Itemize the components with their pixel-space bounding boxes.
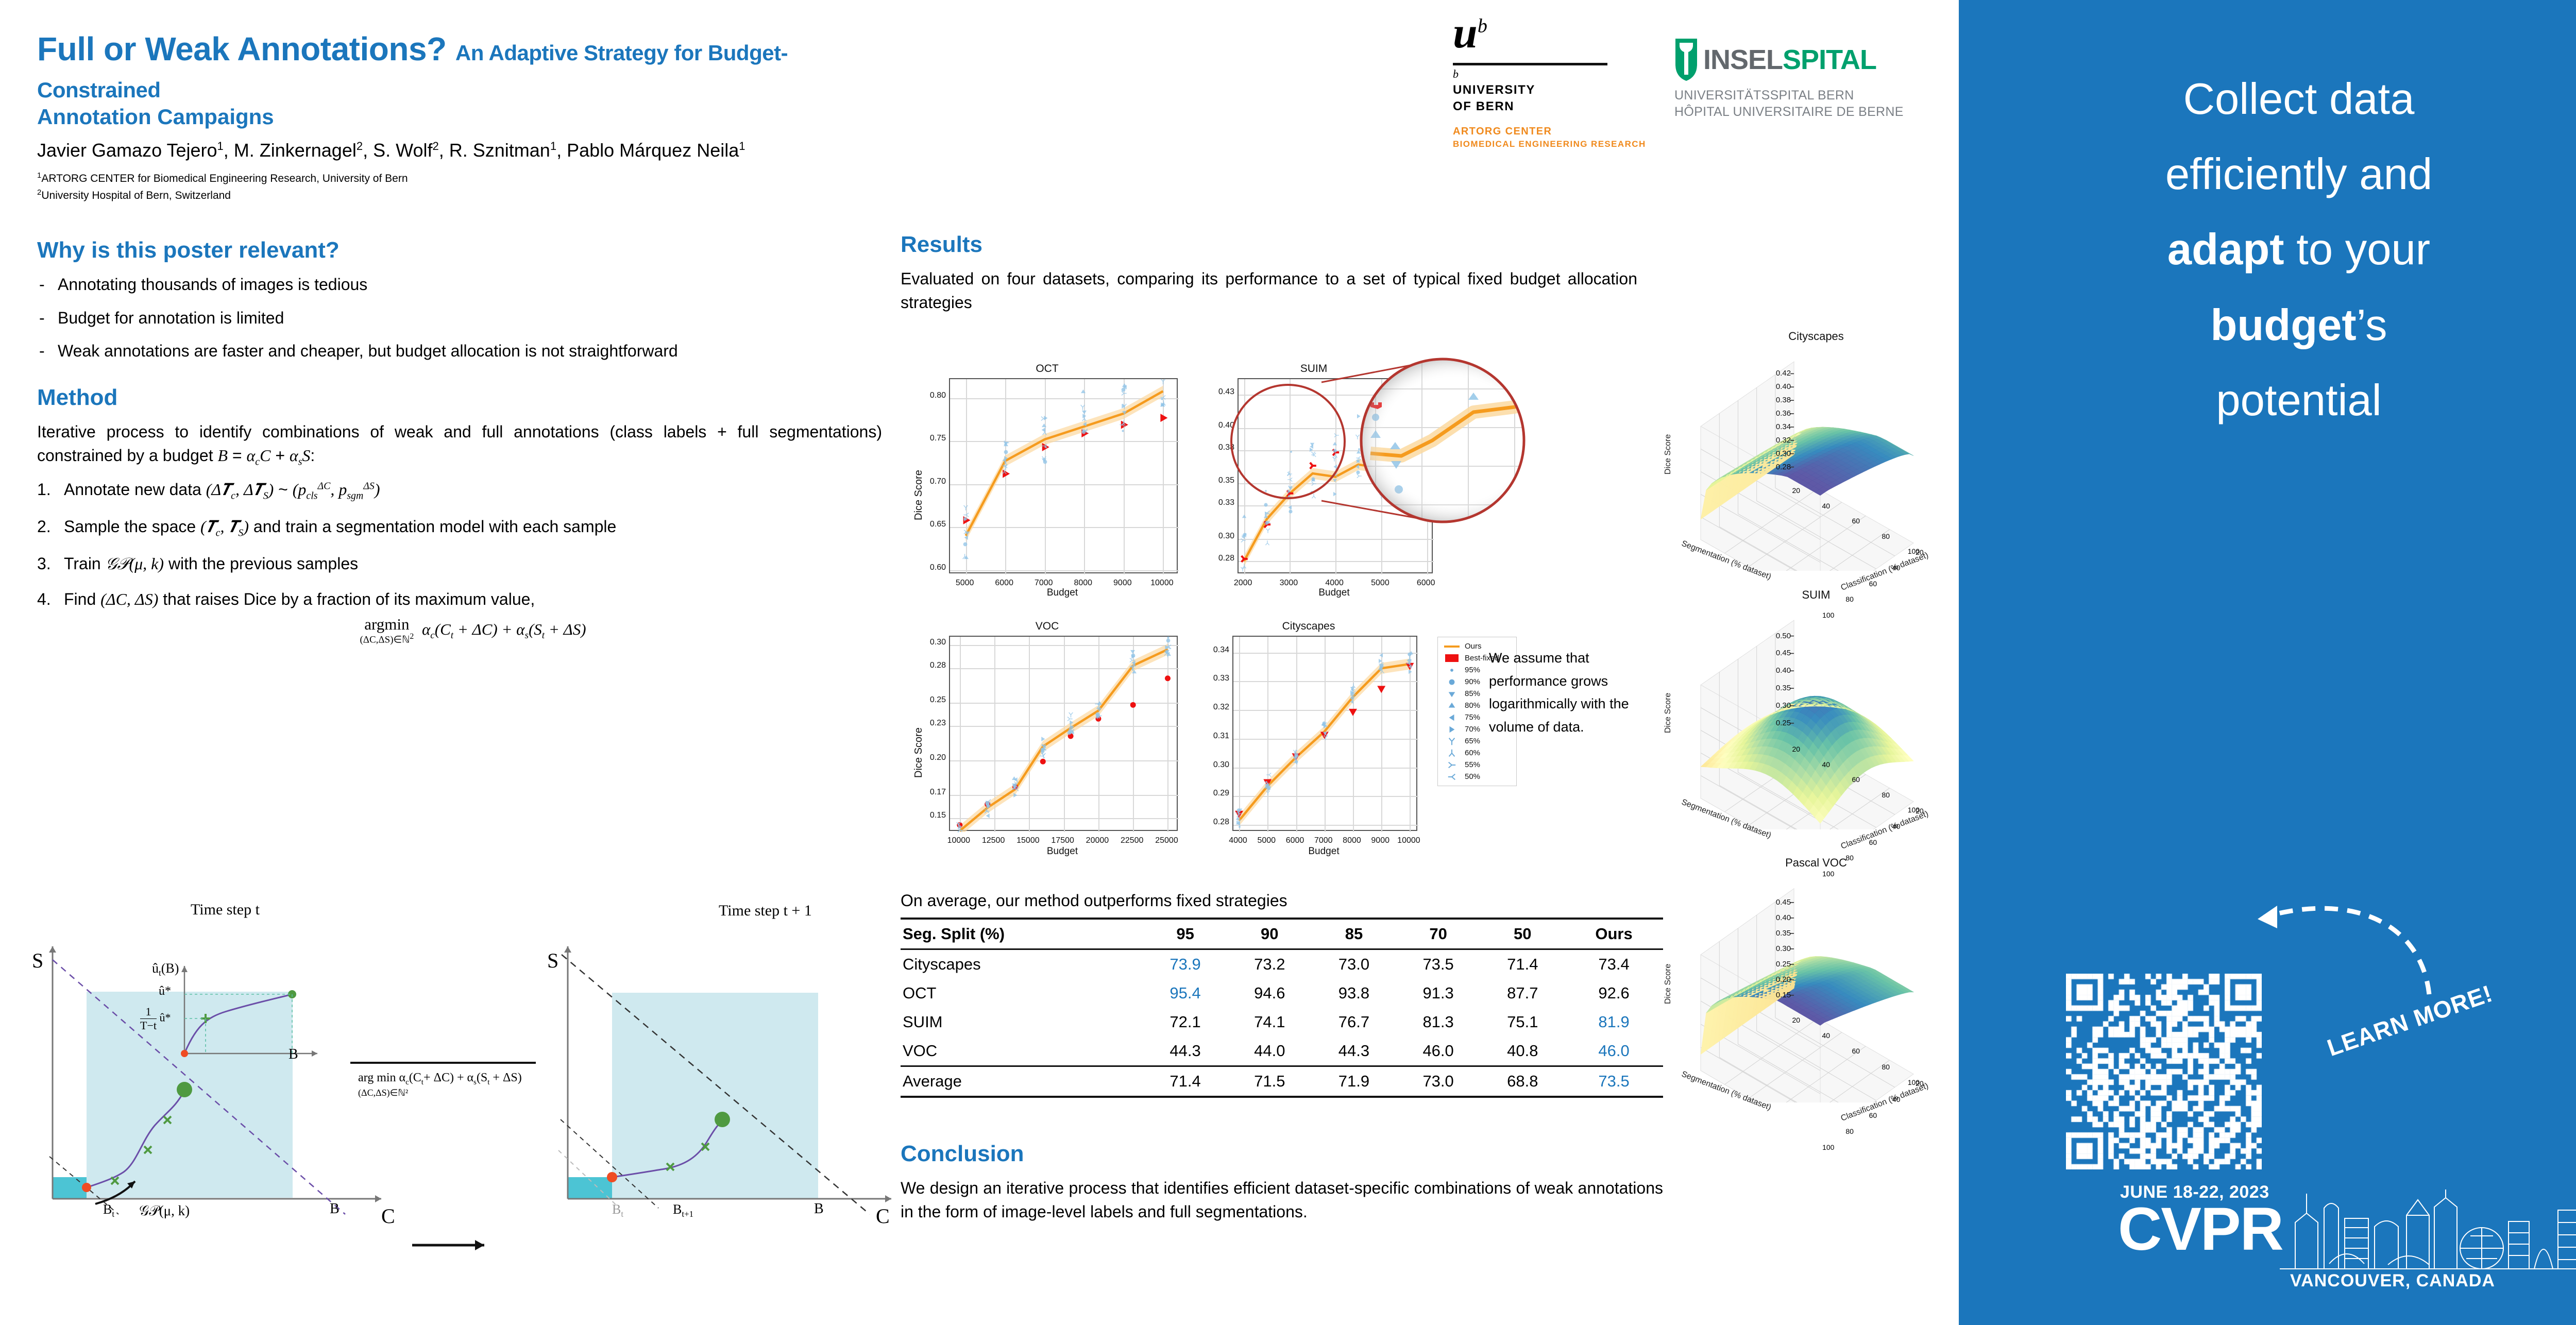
chart-title: Cityscapes	[1195, 620, 1422, 633]
table-cell: 71.4	[1480, 949, 1565, 979]
insel-word-2: SPITAL	[1783, 44, 1876, 75]
surface-pascal-voc: Pascal VOC 0.150.200.250.300.350.400.45D…	[1667, 856, 1965, 1124]
surface-canvas: 0.250.300.350.400.450.50Dice ScoreSegmen…	[1667, 603, 1965, 829]
diagram-axis-S-right: S	[547, 948, 558, 973]
list-item: Budget for annotation is limited	[37, 306, 882, 330]
y-tick-label: 0.28	[1201, 554, 1234, 563]
tagline-line-1: Collect data	[1990, 62, 2576, 137]
legend-marker-icon	[1443, 666, 1461, 675]
scatter-point	[1378, 436, 1384, 442]
scatter-point	[1287, 485, 1293, 491]
scatter-point	[1288, 449, 1294, 455]
table-column-header: 50	[1480, 919, 1565, 949]
table-row-label: SUIM	[901, 1008, 1143, 1037]
table-cell: 71.9	[1312, 1066, 1396, 1097]
table-cell: 92.6	[1565, 979, 1663, 1008]
scatter-point	[1323, 731, 1329, 737]
scatter-point	[1041, 429, 1048, 436]
legend-label: 55%	[1465, 760, 1480, 769]
ub-name: UNIVERSITY OF BERN	[1453, 82, 1669, 114]
legend-label: 80%	[1465, 701, 1480, 710]
diagram-axis-C-right2: C	[876, 1204, 890, 1228]
legend-marker-icon	[1443, 689, 1461, 699]
scatter-point	[1003, 439, 1010, 446]
legend-label: 60%	[1465, 749, 1480, 757]
z-tick-label: 0.38	[1761, 396, 1791, 404]
y-tick-label: 0.75	[913, 434, 946, 443]
y-tick-label: 0.25	[913, 695, 946, 705]
scatter-point	[1311, 481, 1317, 487]
cvpr-wordmark: CVPR	[2118, 1199, 2283, 1260]
scatter-point	[1264, 509, 1270, 516]
series-best-fixed-marker	[1040, 759, 1046, 765]
diagram-label-B-right: B	[814, 1201, 824, 1217]
scatter-point	[1407, 669, 1413, 675]
scatter-point	[1425, 414, 1431, 420]
page-title: Full or Weak Annotations? An Adaptive St…	[37, 31, 882, 105]
scatter-point	[1321, 721, 1328, 727]
scatter-point	[1293, 751, 1299, 757]
middle-arrow	[412, 1240, 484, 1250]
y-tick-label: 20	[1916, 1079, 1938, 1088]
table-cell: 76.7	[1312, 1008, 1396, 1037]
scatter-point	[984, 808, 990, 814]
y-tick-label: 40	[1892, 822, 1915, 830]
qr-code[interactable]	[2066, 974, 2262, 1169]
y-tick-label: 20	[1916, 807, 1938, 815]
z-tick-label: 0.30	[1761, 944, 1791, 953]
scatter-point	[957, 827, 963, 834]
y-tick-label: 40	[1892, 1095, 1915, 1103]
scatter-point	[1122, 384, 1128, 390]
table-header-row: Seg. Split (%)9590857050Ours	[901, 919, 1663, 949]
legend-label: 65%	[1465, 737, 1480, 745]
series-layer	[950, 379, 1179, 574]
plot-area	[949, 378, 1178, 573]
scatter-point	[1165, 643, 1172, 650]
table-cell: 68.8	[1480, 1066, 1565, 1097]
table-cell: 75.1	[1480, 1008, 1565, 1037]
table-column-header: 90	[1227, 919, 1312, 949]
scatter-point	[1081, 415, 1088, 422]
table-cell: 73.5	[1396, 949, 1481, 979]
scatter-point	[1423, 448, 1430, 454]
scatter-point	[1350, 683, 1357, 689]
scatter-point	[1079, 404, 1086, 411]
inselspital-wordmark: INSELSPITAL	[1703, 44, 1876, 76]
legend-item: 50%	[1443, 771, 1511, 783]
results-chart-grid: OCT Dice Score Budget 0.600.650.700.750.…	[907, 361, 1535, 876]
chart-xlabel: Budget	[949, 846, 1176, 857]
conclusion-heading: Conclusion	[901, 1141, 1663, 1167]
chart-title: SUIM	[1195, 363, 1432, 375]
scatter-point	[1292, 759, 1298, 766]
y-tick-label: 60	[1869, 580, 1892, 588]
scatter-point	[1066, 716, 1073, 722]
table-cell: 73.4	[1565, 949, 1663, 979]
series-best-fixed-marker	[1377, 686, 1385, 693]
table-caption: On average, our method outperforms fixed…	[901, 891, 1663, 910]
scatter-point	[1236, 819, 1242, 825]
table-column-header: Ours	[1565, 919, 1663, 949]
tagline-line-3-rest: to your	[2284, 225, 2430, 274]
surface-canvas: 0.150.200.250.300.350.400.45Dice ScoreSe…	[1667, 871, 1965, 1102]
scatter-point	[1241, 532, 1247, 538]
institution-logos: ub b UNIVERSITY OF BERN ARTORG CENTER BI…	[1453, 13, 1947, 183]
legend-marker-icon	[1443, 654, 1461, 662]
legend-label: 70%	[1465, 725, 1480, 734]
x-tick-label: 60	[1836, 775, 1860, 784]
artorg-logo: ARTORG CENTER BIOMEDICAL ENGINEERING RES…	[1453, 125, 1669, 150]
legend-marker-icon	[1443, 713, 1461, 722]
x-tick-label: 40	[1806, 1031, 1830, 1040]
results-table: Seg. Split (%)9590857050Ours Cityscapes7…	[901, 918, 1663, 1098]
chart-title: VOC	[907, 620, 1188, 633]
tagline-budget: budget	[2210, 301, 2356, 350]
scatter-point	[1378, 493, 1384, 499]
tagline-line-3: adapt to your	[1990, 212, 2576, 287]
table-cell: 71.5	[1227, 1066, 1312, 1097]
scatter-point	[961, 553, 968, 560]
scatter-point	[1001, 468, 1008, 475]
scatter-point	[1082, 428, 1089, 434]
table-row-label: Average	[901, 1066, 1143, 1097]
y-tick-label: 20	[1916, 548, 1938, 556]
middle-column: Results Evaluated on four datasets, comp…	[901, 232, 1663, 323]
scatter-point	[1424, 438, 1430, 445]
series-best-fixed-marker	[1349, 709, 1357, 716]
y-tick-label: 60	[1869, 1111, 1892, 1119]
table-cell: 95.4	[1143, 979, 1228, 1008]
scatter-point	[1332, 441, 1338, 447]
scatter-point	[1354, 434, 1361, 440]
y-tick-label: 0.30	[1196, 760, 1229, 770]
relevance-bullets: Annotating thousands of images is tediou…	[37, 273, 882, 363]
surface-svg	[1667, 603, 1965, 829]
chart-title: SUIM	[1667, 588, 1965, 602]
cvpr-logo: JUNE 18-22, 2023 CVPR VANCOUVER, CANADA	[2120, 1182, 2576, 1301]
table-cell: 46.0	[1396, 1037, 1481, 1066]
scatter-point	[1003, 449, 1009, 455]
scatter-point	[1263, 502, 1269, 508]
scatter-point	[1240, 537, 1246, 543]
legend-label: Ours	[1465, 642, 1482, 651]
list-item: Sample the space (𝑻c, 𝑻S) and train a se…	[37, 515, 882, 540]
table-row: OCT95.494.693.891.387.792.6	[901, 979, 1663, 1008]
y-tick-label: 0.70	[913, 477, 946, 486]
diagram-time-step-t	[49, 946, 381, 1214]
tagline-line-5: potential	[1990, 363, 2576, 438]
legend-marker-icon	[1443, 701, 1461, 710]
y-tick-label: 0.33	[1201, 498, 1234, 507]
tagline-line-4: budget’s	[1990, 288, 2576, 363]
scatter-point	[1003, 455, 1009, 462]
y-tick-label: 40	[1892, 564, 1915, 572]
surface-canvas: 0.280.300.320.340.360.380.400.42Dice Sco…	[1667, 344, 1965, 571]
z-tick-label: 0.36	[1761, 409, 1791, 418]
scatter-point	[1378, 464, 1384, 470]
scatter-point	[1287, 504, 1293, 511]
scatter-point	[1013, 786, 1020, 792]
list-item: Find (ΔC, ΔS) that raises Dice by a frac…	[37, 587, 882, 646]
diagram-label-Bt-left: Bt	[103, 1202, 114, 1219]
diagram-left-title: Time step t	[191, 901, 260, 919]
table-column-header: 85	[1312, 919, 1396, 949]
x-tick-label: 20	[1776, 745, 1800, 753]
table-cell: 40.8	[1480, 1037, 1565, 1066]
scatter-point	[1355, 413, 1362, 419]
scatter-point	[1332, 452, 1338, 458]
scatter-point	[1129, 657, 1136, 664]
scatter-point	[1401, 409, 1407, 415]
x-tick-label: 20	[1776, 486, 1800, 495]
diagram-inset-axis-B: B	[289, 1046, 298, 1063]
scatter-point	[985, 798, 992, 805]
method-intro: Iterative process to identify combinatio…	[37, 420, 882, 470]
scatter-point	[1265, 790, 1271, 796]
scatter-point	[1096, 712, 1103, 719]
z-tick-label: 0.35	[1761, 684, 1791, 692]
y-tick-label: 0.28	[1196, 818, 1229, 827]
y-tick-label: 0.80	[913, 391, 946, 400]
scatter-point	[1040, 736, 1046, 742]
ub-divider	[1453, 63, 1607, 65]
table-cell: 73.5	[1565, 1066, 1663, 1097]
scatter-point	[1041, 443, 1048, 449]
surface-cityscapes: Cityscapes 0.280.300.320.340.360.380.400…	[1667, 330, 1965, 582]
table-cell: 93.8	[1312, 979, 1396, 1008]
y-tick-label: 0.29	[1196, 789, 1229, 798]
plot-area	[949, 636, 1178, 831]
scatter-point	[1012, 792, 1019, 799]
table-cell: 91.3	[1396, 979, 1481, 1008]
table-summary-row: Average71.471.571.973.068.873.5	[901, 1066, 1663, 1097]
legend-label: 50%	[1465, 772, 1480, 781]
scatter-point	[1235, 810, 1241, 816]
x-tick-label: 40	[1806, 760, 1830, 769]
x-tick-label: 80	[1866, 532, 1890, 540]
legend-marker-icon	[1443, 725, 1461, 734]
z-tick-label: 0.25	[1761, 960, 1791, 969]
inselspital-subtitle: UNIVERSITÄTSSPITAL BERN HÔPITAL UNIVERSI…	[1674, 87, 1947, 120]
legend-marker-icon	[1443, 749, 1461, 758]
scatter-point	[963, 512, 970, 518]
x-tick-label: 80	[1866, 791, 1890, 799]
conclusion-section: Conclusion We design an iterative proces…	[901, 1141, 1663, 1232]
z-tick-label: 0.40	[1761, 913, 1791, 922]
insel-word-1: INSEL	[1703, 44, 1783, 75]
cvpr-city: VANCOUVER, CANADA	[2290, 1271, 2495, 1291]
diagram-time-step-t1	[558, 946, 891, 1214]
scatter-point	[1350, 690, 1357, 696]
z-tick-label: 0.34	[1761, 422, 1791, 431]
y-tick-label: 0.35	[1201, 476, 1234, 485]
scatter-point	[1311, 452, 1317, 458]
surface-suim: SUIM 0.250.300.350.400.450.50Dice ScoreS…	[1667, 588, 1965, 851]
scatter-point	[1332, 464, 1338, 470]
ub-name-line2: OF BERN	[1453, 98, 1669, 114]
scatter-point	[1378, 473, 1384, 480]
insel-sub-de: UNIVERSITÄTSSPITAL BERN	[1674, 87, 1947, 104]
list-item: Weak annotations are faster and cheaper,…	[37, 339, 882, 363]
table-cell: 81.3	[1396, 1008, 1481, 1037]
inselspital-mark-icon	[1674, 38, 1698, 82]
chart-xlabel: Budget	[949, 587, 1176, 599]
chart-title: OCT	[907, 363, 1188, 375]
scatter-point	[1401, 428, 1408, 434]
tagline-adapt: adapt	[2167, 225, 2284, 274]
university-of-bern-logo: ub b UNIVERSITY OF BERN ARTORG CENTER BI…	[1453, 13, 1669, 150]
table-cell: 74.1	[1227, 1008, 1312, 1037]
scatter-point	[962, 504, 969, 511]
scatter-point	[1286, 494, 1292, 500]
legend-marker-icon	[1443, 645, 1461, 648]
table-row: VOC44.344.044.346.040.846.0	[901, 1037, 1663, 1066]
z-axis-label: Dice Score	[1664, 693, 1673, 733]
y-tick-label: 0.40	[1201, 421, 1234, 430]
z-axis-label: Dice Score	[1664, 434, 1673, 474]
scatter-point	[1355, 455, 1362, 461]
y-tick-label: 60	[1869, 838, 1892, 846]
legend-marker-icon	[1443, 677, 1461, 687]
scatter-point	[963, 529, 970, 535]
table-cell: 46.0	[1565, 1037, 1663, 1066]
z-tick-label: 0.45	[1761, 649, 1791, 657]
y-tick-label: 0.20	[913, 753, 946, 762]
y-tick-label: 0.38	[1201, 443, 1234, 452]
scatter-point	[1002, 463, 1008, 469]
y-tick-label: 0.65	[913, 520, 946, 529]
scatter-point	[1069, 728, 1075, 735]
timestep-diagram-svg	[21, 899, 891, 1316]
scatter-point	[1266, 772, 1272, 778]
table-cell: 81.9	[1565, 1008, 1663, 1037]
z-tick-label: 0.40	[1761, 666, 1791, 675]
y-tick-label: 0.30	[913, 638, 946, 647]
diagram-label-Bt-right: Bt	[612, 1202, 623, 1219]
scatter-point	[1080, 388, 1087, 395]
z-tick-label: 0.30	[1761, 701, 1791, 710]
x-tick-label: 60	[1836, 517, 1860, 525]
method-diagrams: Time step t Time step t + 1 S S C C Bt B…	[21, 899, 891, 1316]
table-cell: 44.3	[1312, 1037, 1396, 1066]
legend-label: 85%	[1465, 689, 1480, 698]
surface-plot-column: Cityscapes 0.280.300.320.340.360.380.400…	[1667, 330, 1965, 1124]
legend-marker-icon	[1443, 737, 1461, 746]
surface-svg	[1667, 871, 1965, 1102]
z-tick-label: 0.25	[1761, 719, 1791, 727]
scatter-point	[1039, 753, 1046, 759]
scatter-point	[1332, 472, 1338, 478]
plot-area	[1232, 636, 1417, 831]
y-tick-label: 0.17	[913, 788, 946, 797]
scatter-point	[962, 541, 969, 548]
chart-suim: SUIM Budget 0.280.300.330.350.380.400.43…	[1195, 361, 1476, 603]
title-line2: Annotation Campaigns	[37, 105, 882, 129]
results-intro: Evaluated on four datasets, comparing it…	[901, 267, 1637, 315]
scatter-point	[1400, 448, 1406, 454]
legend-label: 75%	[1465, 713, 1480, 722]
legend-label: 90%	[1465, 677, 1480, 686]
y-tick-label: 0.34	[1196, 645, 1229, 655]
relevance-heading: Why is this poster relevant?	[37, 237, 882, 263]
scatter-point	[1241, 514, 1247, 520]
scatter-point	[1241, 563, 1247, 569]
diagram-label-gp: 𝒢𝒫(μ, k)	[139, 1203, 190, 1219]
legend-label: 95%	[1465, 666, 1480, 674]
tagline-line-2: efficiently and	[1990, 137, 2576, 212]
series-best-fixed-marker	[1130, 702, 1136, 708]
table-row: SUIM72.174.176.781.375.181.9	[901, 1008, 1663, 1037]
legend-marker-icon	[1443, 760, 1461, 770]
table-column-header: Seg. Split (%)	[901, 919, 1143, 949]
diagram-label-uhat: ût(B)	[152, 961, 179, 978]
method-heading: Method	[37, 385, 882, 411]
list-item: Annotate new data (Δ𝑻c, Δ𝑻S) ~ (pclsΔC, …	[37, 478, 882, 503]
scatter-point	[1286, 471, 1293, 477]
y-tick-label: 0.60	[913, 563, 946, 572]
scatter-point	[1265, 528, 1271, 534]
x-tick-label: 6000	[1395, 579, 1457, 588]
affiliations: 1ARTORG CENTER for Biomedical Engineerin…	[37, 170, 882, 203]
scatter-point	[1163, 650, 1170, 657]
diagram-right-title: Time step t + 1	[719, 902, 812, 920]
x-tick-label: 60	[1836, 1047, 1860, 1055]
table-cell: 73.9	[1143, 949, 1228, 979]
results-note: We assume that performance grows logarit…	[1489, 647, 1659, 738]
scatter-point	[1041, 455, 1047, 462]
scatter-point	[1263, 488, 1269, 494]
table-row-label: Cityscapes	[901, 949, 1143, 979]
sidebar-tagline: Collect data efficiently and adapt to yo…	[1990, 62, 2576, 438]
scatter-point	[1265, 520, 1271, 526]
inselspital-logo: INSELSPITAL UNIVERSITÄTSSPITAL BERN HÔPI…	[1674, 38, 1947, 120]
z-tick-label: 0.50	[1761, 632, 1791, 640]
conclusion-text: We design an iterative process that iden…	[901, 1176, 1663, 1224]
y-tick-label: 0.28	[913, 661, 946, 670]
table-row-label: VOC	[901, 1037, 1143, 1066]
scatter-point	[1129, 664, 1136, 670]
scatter-point	[1332, 491, 1338, 497]
scatter-point	[1119, 421, 1126, 428]
surface-svg	[1667, 344, 1965, 571]
table-cell: 94.6	[1227, 979, 1312, 1008]
method-section: Method Iterative process to identify com…	[37, 385, 882, 646]
table-cell: 44.3	[1143, 1037, 1228, 1066]
sidebar-panel: Collect data efficiently and adapt to yo…	[1959, 0, 2576, 1325]
table-cell: 44.0	[1227, 1037, 1312, 1066]
x-tick-label: 25000	[1136, 836, 1197, 845]
x-tick-label: 10000	[1131, 579, 1193, 588]
left-column: Full or Weak Annotations? An Adaptive St…	[37, 31, 882, 657]
z-tick-label: 0.32	[1761, 436, 1791, 445]
argmin-equation: argmin(ΔC,ΔS)∈ℕ2 αc(Ct + ΔC) + αs(St + Δ…	[64, 616, 882, 645]
poster-canvas: Full or Weak Annotations? An Adaptive St…	[0, 0, 2576, 1325]
y-tick-label: 0.31	[1196, 732, 1229, 741]
z-tick-label: 0.35	[1761, 929, 1791, 938]
legend-item: 60%	[1443, 747, 1511, 759]
scatter-point	[1378, 447, 1384, 453]
series-best-fixed-marker	[1160, 414, 1167, 422]
scatter-point	[1264, 540, 1270, 546]
table-row: Cityscapes73.973.273.073.571.473.4	[901, 949, 1663, 979]
legend-item: 55%	[1443, 759, 1511, 771]
z-tick-label: 0.40	[1761, 382, 1791, 391]
y-tick-label: 0.30	[1201, 532, 1234, 541]
x-tick-label: 80	[1866, 1063, 1890, 1071]
y-tick-label: 0.43	[1201, 387, 1234, 397]
scatter-point	[1121, 390, 1127, 397]
